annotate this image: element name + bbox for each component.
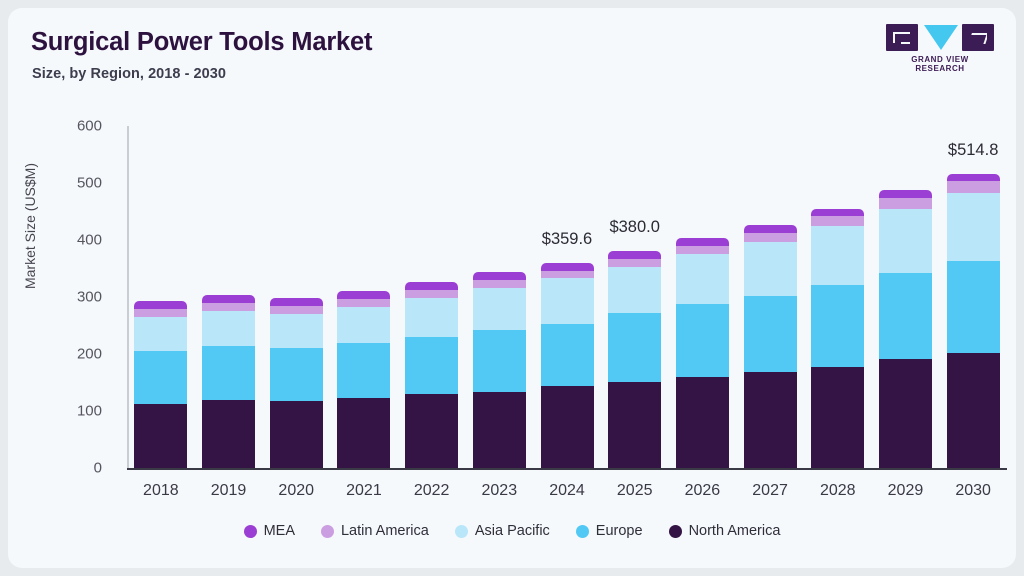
bar-segment-north-america-2030[interactable] [947, 353, 1000, 468]
y-axis-tick-100: 100 [56, 403, 102, 420]
bar-segment-latin-america-2023[interactable] [473, 280, 526, 289]
bar-group-2025[interactable]: $380.0 [608, 118, 661, 468]
bar-segment-latin-america-2020[interactable] [270, 306, 323, 314]
bar-segment-latin-america-2024[interactable] [541, 271, 594, 278]
bar-group-2026[interactable] [676, 118, 729, 468]
x-axis-tick-2030: 2030 [933, 482, 1013, 500]
bar-segment-mea-2022[interactable] [405, 282, 458, 290]
bar-segment-europe-2029[interactable] [879, 273, 932, 360]
y-axis-tick-0: 0 [56, 460, 102, 477]
bar-segment-mea-2024[interactable] [541, 263, 594, 271]
bar-segment-latin-america-2018[interactable] [134, 309, 187, 317]
legend-swatch-icon [321, 525, 334, 538]
bar-segment-latin-america-2029[interactable] [879, 198, 932, 209]
bar-segment-mea-2028[interactable] [811, 209, 864, 216]
bar-value-label-2025: $380.0 [609, 218, 659, 237]
bar-segment-asia-pacific-2020[interactable] [270, 314, 323, 348]
bar-segment-asia-pacific-2026[interactable] [676, 254, 729, 304]
bar-segment-north-america-2021[interactable] [337, 398, 390, 468]
legend-item-asia-pacific[interactable]: Asia Pacific [455, 523, 550, 539]
bar-segment-asia-pacific-2025[interactable] [608, 267, 661, 313]
bar-group-2023[interactable] [473, 118, 526, 468]
bar-segment-europe-2026[interactable] [676, 304, 729, 377]
bar-segment-mea-2018[interactable] [134, 301, 187, 309]
bar-segment-north-america-2026[interactable] [676, 377, 729, 468]
bar-segment-asia-pacific-2018[interactable] [134, 317, 187, 351]
y-axis-tick-400: 400 [56, 232, 102, 249]
bar-group-2018[interactable] [134, 118, 187, 468]
bar-group-2024[interactable]: $359.6 [541, 118, 594, 468]
bar-group-2019[interactable] [202, 118, 255, 468]
bar-segment-latin-america-2028[interactable] [811, 216, 864, 226]
y-axis-tick-500: 500 [56, 175, 102, 192]
y-axis-tick-300: 300 [56, 289, 102, 306]
bar-segment-europe-2030[interactable] [947, 261, 1000, 353]
chart-card: Surgical Power Tools Market Size, by Reg… [8, 8, 1016, 568]
bar-group-2027[interactable] [744, 118, 797, 468]
bar-segment-north-america-2024[interactable] [541, 386, 594, 468]
bar-group-2021[interactable] [337, 118, 390, 468]
bar-segment-mea-2025[interactable] [608, 251, 661, 259]
bar-segment-europe-2020[interactable] [270, 348, 323, 400]
bar-segment-mea-2019[interactable] [202, 295, 255, 303]
bar-group-2028[interactable] [811, 118, 864, 468]
bar-segment-north-america-2029[interactable] [879, 359, 932, 468]
chart-legend: MEALatin AmericaAsia PacificEuropeNorth … [8, 523, 1016, 539]
legend-item-latin-america[interactable]: Latin America [321, 523, 429, 539]
legend-swatch-icon [244, 525, 257, 538]
legend-label: Asia Pacific [475, 523, 550, 539]
bar-segment-europe-2028[interactable] [811, 285, 864, 367]
legend-label: North America [689, 523, 781, 539]
bar-segment-asia-pacific-2027[interactable] [744, 242, 797, 296]
legend-label: Europe [596, 523, 643, 539]
bar-segment-mea-2030[interactable] [947, 174, 1000, 181]
bar-segment-latin-america-2025[interactable] [608, 259, 661, 267]
bar-segment-asia-pacific-2021[interactable] [337, 307, 390, 343]
bar-segment-mea-2027[interactable] [744, 225, 797, 232]
bar-segment-north-america-2020[interactable] [270, 401, 323, 468]
bar-segment-asia-pacific-2030[interactable] [947, 193, 1000, 261]
bars-container: $359.6$380.0$514.8 [127, 118, 1007, 468]
bar-value-label-2030: $514.8 [948, 141, 998, 160]
bar-segment-north-america-2023[interactable] [473, 392, 526, 468]
bar-segment-europe-2022[interactable] [405, 337, 458, 395]
legend-swatch-icon [576, 525, 589, 538]
bar-segment-asia-pacific-2028[interactable] [811, 226, 864, 285]
bar-segment-north-america-2019[interactable] [202, 400, 255, 468]
bar-segment-europe-2021[interactable] [337, 343, 390, 398]
bar-segment-latin-america-2021[interactable] [337, 299, 390, 307]
bar-segment-latin-america-2022[interactable] [405, 290, 458, 299]
bar-segment-north-america-2025[interactable] [608, 382, 661, 468]
bar-segment-asia-pacific-2023[interactable] [473, 288, 526, 330]
bar-group-2029[interactable] [879, 118, 932, 468]
bar-group-2022[interactable] [405, 118, 458, 468]
legend-item-europe[interactable]: Europe [576, 523, 643, 539]
bar-segment-mea-2026[interactable] [676, 238, 729, 246]
bar-segment-north-america-2022[interactable] [405, 394, 458, 468]
legend-label: MEA [264, 523, 295, 539]
bar-segment-europe-2025[interactable] [608, 313, 661, 382]
legend-swatch-icon [669, 525, 682, 538]
stacked-bar-chart: Market Size (US$M) 0100200300400500600 $… [8, 8, 1016, 568]
bar-segment-europe-2023[interactable] [473, 330, 526, 392]
y-axis-tick-600: 600 [56, 118, 102, 135]
bar-segment-asia-pacific-2029[interactable] [879, 209, 932, 273]
bar-segment-latin-america-2019[interactable] [202, 303, 255, 311]
bar-segment-europe-2027[interactable] [744, 296, 797, 372]
bar-segment-mea-2020[interactable] [270, 298, 323, 306]
y-axis-label: Market Size (US$M) [22, 126, 38, 326]
bar-segment-europe-2018[interactable] [134, 351, 187, 404]
legend-swatch-icon [455, 525, 468, 538]
bar-segment-latin-america-2027[interactable] [744, 233, 797, 242]
bar-value-label-2024: $359.6 [542, 230, 592, 249]
bar-segment-mea-2023[interactable] [473, 272, 526, 280]
bar-segment-latin-america-2026[interactable] [676, 246, 729, 255]
bar-group-2030[interactable]: $514.8 [947, 118, 1000, 468]
x-axis-line [127, 468, 1007, 470]
legend-item-mea[interactable]: MEA [244, 523, 295, 539]
y-axis-tick-200: 200 [56, 346, 102, 363]
bar-segment-europe-2019[interactable] [202, 346, 255, 400]
bar-segment-north-america-2027[interactable] [744, 372, 797, 468]
bar-segment-mea-2029[interactable] [879, 190, 932, 197]
bar-segment-north-america-2028[interactable] [811, 367, 864, 468]
bar-segment-asia-pacific-2022[interactable] [405, 298, 458, 337]
bar-group-2020[interactable] [270, 118, 323, 468]
bar-segment-europe-2024[interactable] [541, 324, 594, 386]
bar-segment-latin-america-2030[interactable] [947, 181, 1000, 192]
bar-segment-asia-pacific-2024[interactable] [541, 278, 594, 324]
legend-item-north-america[interactable]: North America [669, 523, 781, 539]
bar-segment-mea-2021[interactable] [337, 291, 390, 299]
bar-segment-north-america-2018[interactable] [134, 404, 187, 468]
bar-segment-asia-pacific-2019[interactable] [202, 311, 255, 346]
legend-label: Latin America [341, 523, 429, 539]
